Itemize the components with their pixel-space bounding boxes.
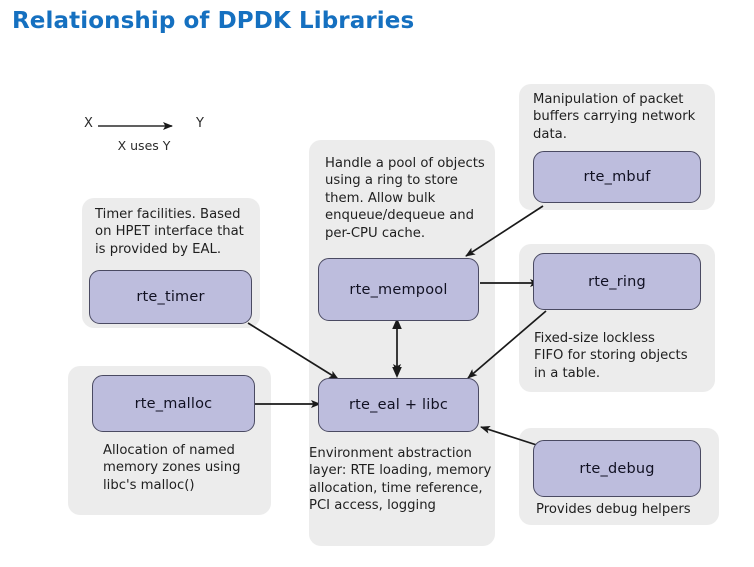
description-mempool: Handle a pool of objects using a ring to… [325, 155, 495, 242]
node-rte-timer[interactable]: rte_timer [89, 270, 252, 324]
description-timer: Timer facilities. Based on HPET interfac… [95, 206, 260, 258]
node-rte-eal[interactable]: rte_eal + libc [318, 378, 479, 432]
legend-from-label: X [84, 116, 93, 131]
description-mbuf: Manipulation of packet buffers carrying … [533, 91, 713, 143]
description-ring: Fixed-size lockless FIFO for storing obj… [534, 330, 714, 382]
legend: X Y X uses Y [84, 116, 204, 160]
description-debug: Provides debug helpers [536, 501, 716, 518]
diagram-canvas: Relationship of DPDK Libraries X Y X use… [0, 0, 754, 567]
legend-caption: X uses Y [84, 138, 204, 153]
legend-to-label: Y [196, 116, 204, 131]
node-rte-malloc[interactable]: rte_malloc [92, 375, 255, 432]
node-rte-mbuf[interactable]: rte_mbuf [533, 151, 701, 203]
page-title: Relationship of DPDK Libraries [12, 8, 414, 34]
node-rte-mempool[interactable]: rte_mempool [318, 258, 479, 321]
description-malloc: Allocation of named memory zones using l… [103, 442, 278, 494]
node-rte-ring[interactable]: rte_ring [533, 253, 701, 310]
description-eal: Environment abstraction layer: RTE loadi… [309, 445, 504, 515]
node-rte-debug[interactable]: rte_debug [533, 440, 701, 497]
